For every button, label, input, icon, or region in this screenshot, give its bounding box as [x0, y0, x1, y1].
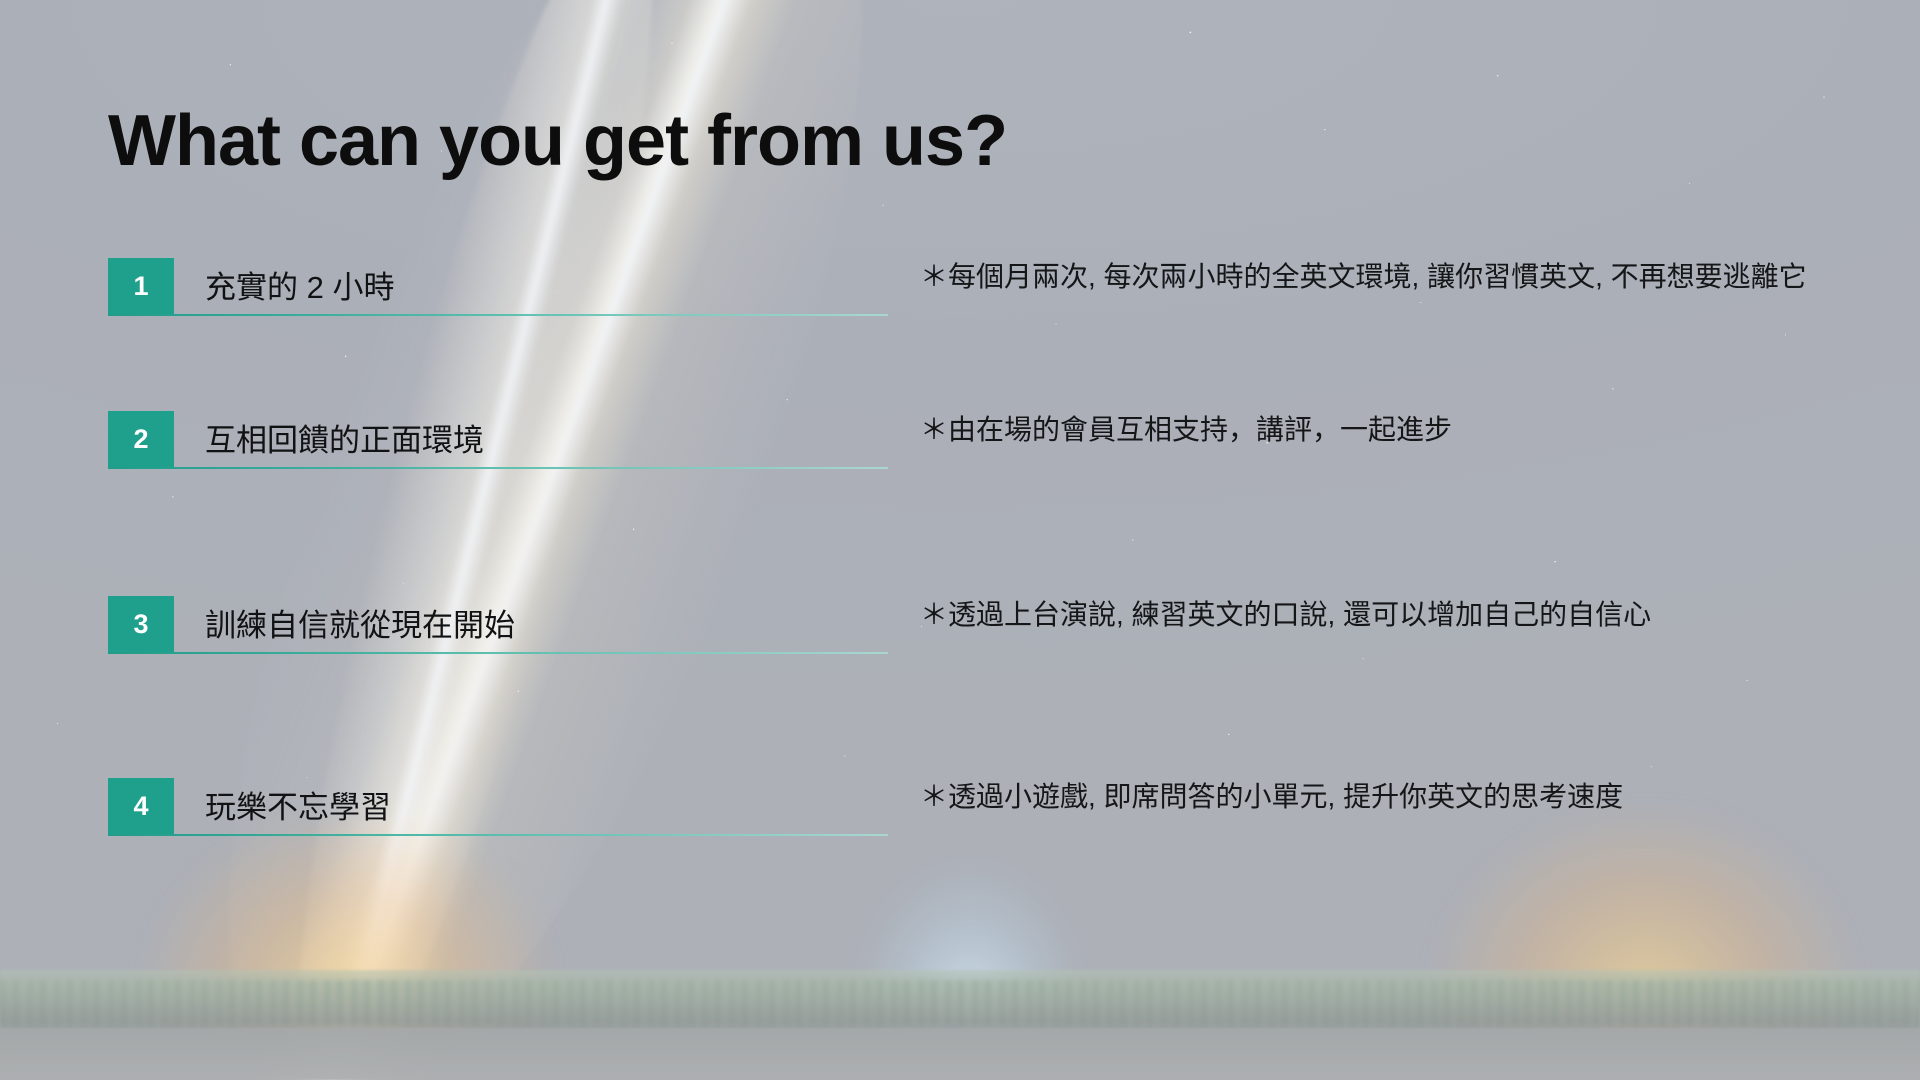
- item-heading: 充實的 2 小時: [205, 272, 394, 303]
- item-heading: 訓練自信就從現在開始: [205, 610, 515, 641]
- item-underline: [108, 652, 888, 654]
- item-number-badge: 2: [108, 411, 174, 467]
- slide-content: What can you get from us? 1 充實的 2 小時 ＊每個…: [0, 0, 1920, 1080]
- item-description: ＊透過上台演說, 練習英文的口說, 還可以增加自己的自信心: [920, 596, 1825, 635]
- page-title: What can you get from us?: [108, 104, 1007, 180]
- presentation-slide: What can you get from us? 1 充實的 2 小時 ＊每個…: [0, 0, 1920, 1080]
- item-number-badge: 3: [108, 596, 174, 652]
- item-heading: 互相回饋的正面環境: [205, 425, 484, 456]
- item-number-badge: 1: [108, 258, 174, 314]
- item-number-badge: 4: [108, 778, 174, 834]
- item-description: ＊由在場的會員互相支持，講評，一起進步: [920, 411, 1825, 450]
- item-description: ＊每個月兩次, 每次兩小時的全英文環境, 讓你習慣英文, 不再想要逃離它: [920, 258, 1825, 297]
- item-heading: 玩樂不忘學習: [205, 792, 391, 823]
- item-underline: [108, 834, 888, 836]
- item-description: ＊透過小遊戲, 即席問答的小單元, 提升你英文的思考速度: [920, 778, 1825, 817]
- item-underline: [108, 467, 888, 469]
- item-underline: [108, 314, 888, 316]
